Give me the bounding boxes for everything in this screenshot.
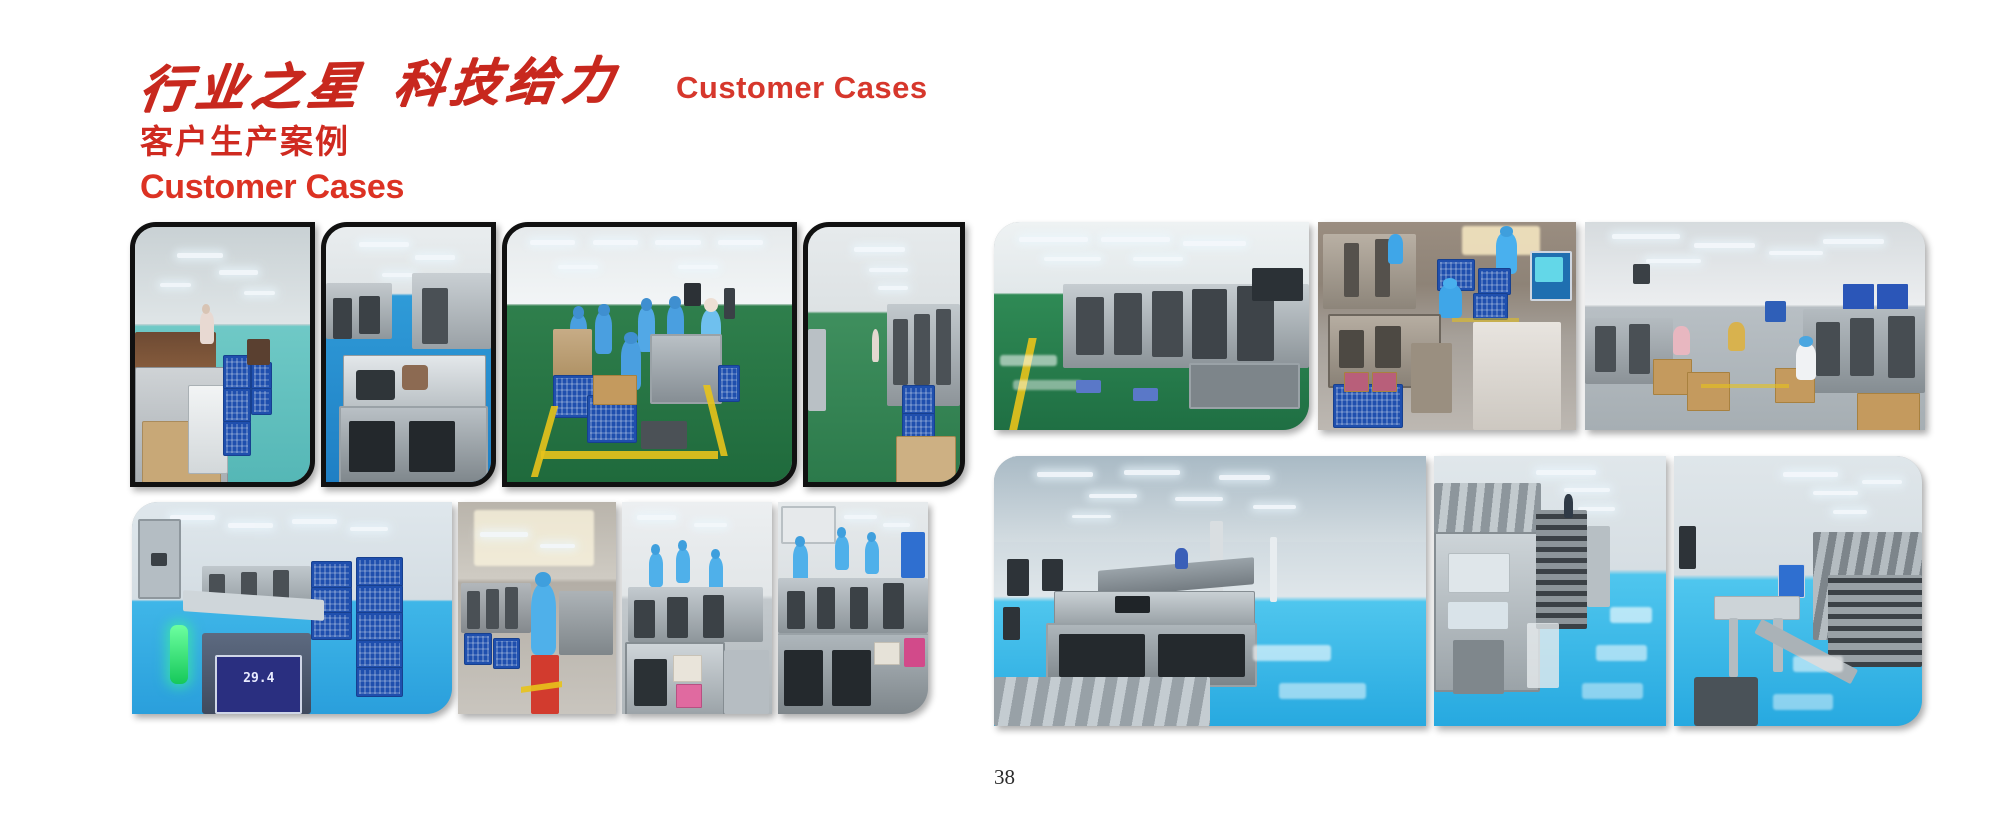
slide-canvas: 行业之星科技给力 Customer Cases 客户生产案例 Customer …	[0, 0, 2009, 838]
scene	[994, 456, 1426, 726]
bottom-left-photo-group: 29.4	[132, 502, 928, 714]
scene	[1585, 222, 1925, 430]
top-left-photo-group	[130, 222, 965, 487]
scene	[622, 502, 772, 714]
header-chinese-subtitle: 客户生产案例	[140, 124, 1340, 160]
scene	[994, 222, 1309, 430]
scene	[808, 227, 960, 482]
photo-tl-4[interactable]	[803, 222, 965, 487]
top-right-photo-group	[994, 222, 1925, 430]
calligraphy-phrase-2: 科技给力	[390, 50, 623, 114]
hmi-panel-value: 29.4	[217, 671, 300, 686]
photo-bl-1[interactable]: 29.4	[132, 502, 452, 714]
scene	[1434, 456, 1666, 726]
photo-tl-2[interactable]	[321, 222, 496, 487]
scene	[507, 227, 792, 482]
photo-tl-1[interactable]	[130, 222, 315, 487]
calligraphy-title: 行业之星科技给力	[136, 55, 622, 115]
photo-br-2[interactable]	[1434, 456, 1666, 726]
photo-bl-2[interactable]	[458, 502, 616, 714]
calligraphy-row: 行业之星科技给力 Customer Cases	[140, 48, 1340, 110]
scene	[326, 227, 491, 482]
scene	[1674, 456, 1922, 726]
photo-br-1[interactable]	[994, 456, 1426, 726]
page-number: 38	[0, 765, 2009, 790]
hmi-panel: 29.4	[215, 655, 302, 714]
slide-header: 行业之星科技给力 Customer Cases 客户生产案例 Customer …	[140, 48, 1340, 207]
scene	[135, 227, 310, 482]
photo-bl-3[interactable]	[622, 502, 772, 714]
photo-br-3[interactable]	[1674, 456, 1922, 726]
header-english-bold: Customer Cases	[140, 169, 1340, 206]
scene	[778, 502, 928, 714]
photo-tl-3[interactable]	[502, 222, 797, 487]
photo-tr-3[interactable]	[1585, 222, 1925, 430]
calligraphy-phrase-1: 行业之星	[135, 55, 368, 119]
signal-tower-green	[170, 625, 188, 684]
photo-bl-4[interactable]	[778, 502, 928, 714]
header-english-thin: Customer Cases	[676, 70, 928, 110]
bottom-right-photo-group	[994, 456, 1922, 726]
photo-tr-1[interactable]	[994, 222, 1309, 430]
photo-tr-2[interactable]	[1318, 222, 1576, 430]
scene: 29.4	[132, 502, 452, 714]
scene	[458, 502, 616, 714]
scene	[1318, 222, 1576, 430]
